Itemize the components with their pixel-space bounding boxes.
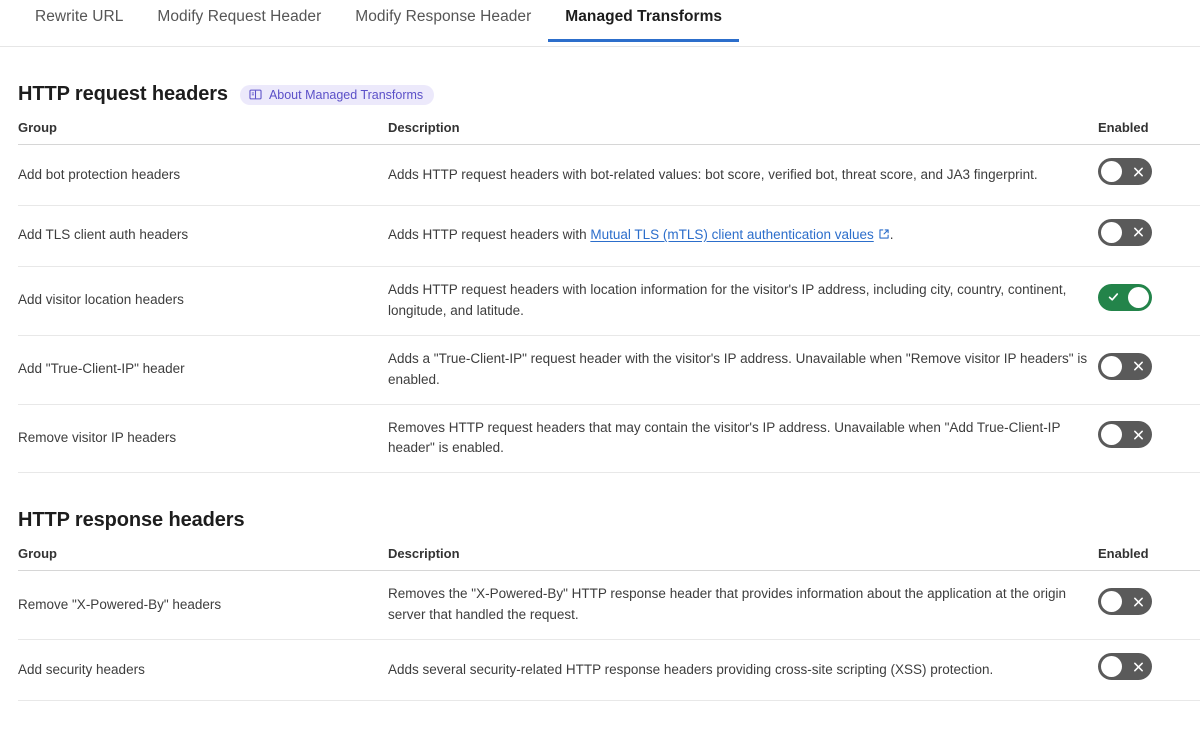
description-suffix: . [890,227,894,242]
table-row: Add TLS client auth headers Adds HTTP re… [18,205,1200,266]
close-icon [1133,661,1144,672]
request-section-header: HTTP request headers About Managed Trans… [18,83,1182,106]
table-row: Remove visitor IP headers Removes HTTP r… [18,404,1200,473]
toggle-add-true-client-ip-header[interactable] [1098,353,1152,380]
column-header-enabled: Enabled [1098,546,1200,571]
tab-label: Modify Response Header [355,8,531,25]
close-icon [1133,429,1144,440]
link-label: Mutual TLS (mTLS) client authentication … [590,227,873,242]
toggle-knob [1101,424,1122,445]
row-enabled-cell [1098,571,1200,640]
toggle-knob [1101,222,1122,243]
row-enabled-cell [1098,266,1200,335]
page-title: HTTP request headers [18,83,228,106]
response-headers-table: Group Description Enabled Remove "X-Powe… [18,546,1200,701]
check-icon [1107,291,1120,304]
column-header-description: Description [388,120,1098,145]
tab-label: Rewrite URL [35,8,123,25]
tab-modify-request-header[interactable]: Modify Request Header [140,0,338,41]
toggle-add-security-headers[interactable] [1098,653,1152,680]
row-enabled-cell [1098,640,1200,701]
row-description: Adds HTTP request headers with Mutual TL… [388,205,1098,266]
row-description: Adds several security-related HTTP respo… [388,640,1098,701]
toggle-knob [1101,356,1122,377]
tab-label: Modify Request Header [157,8,321,25]
transform-rules-tabbar: Rewrite URL Modify Request Header Modify… [0,0,1200,47]
request-headers-table: Group Description Enabled Add bot protec… [18,120,1200,473]
toggle-add-bot-protection-headers[interactable] [1098,158,1152,185]
row-description: Adds HTTP request headers with location … [388,266,1098,335]
tab-managed-transforms[interactable]: Managed Transforms [548,0,739,41]
toggle-add-visitor-location-headers[interactable] [1098,284,1152,311]
column-header-enabled: Enabled [1098,120,1200,145]
response-section-title: HTTP response headers [18,509,245,532]
table-row: Remove "X-Powered-By" headers Removes th… [18,571,1200,640]
close-icon [1133,596,1144,607]
column-header-description: Description [388,546,1098,571]
toggle-knob [1128,287,1149,308]
row-description: Removes HTTP request headers that may co… [388,404,1098,473]
close-icon [1133,361,1144,372]
tab-label: Managed Transforms [565,8,722,25]
row-enabled-cell [1098,205,1200,266]
column-header-group: Group [18,546,388,571]
close-icon [1133,166,1144,177]
tab-modify-response-header[interactable]: Modify Response Header [338,0,548,41]
table-row: Add security headers Adds several securi… [18,640,1200,701]
table-header-row: Group Description Enabled [18,546,1200,571]
row-group-name: Add visitor location headers [18,266,388,335]
toggle-knob [1101,161,1122,182]
response-section-header: HTTP response headers [18,509,1182,532]
mtls-documentation-link[interactable]: Mutual TLS (mTLS) client authentication … [590,227,873,242]
row-description: Adds a "True-Client-IP" request header w… [388,335,1098,404]
row-enabled-cell [1098,335,1200,404]
http-response-headers-section: HTTP response headers Group Description … [0,509,1200,701]
row-group-name: Add "True-Client-IP" header [18,335,388,404]
column-header-group: Group [18,120,388,145]
http-request-headers-section: HTTP request headers About Managed Trans… [0,83,1200,473]
table-header-row: Group Description Enabled [18,120,1200,145]
about-managed-transforms-badge[interactable]: About Managed Transforms [240,85,434,105]
table-row: Add visitor location headers Adds HTTP r… [18,266,1200,335]
row-description: Adds HTTP request headers with bot-relat… [388,145,1098,206]
toggle-knob [1101,656,1122,677]
badge-label: About Managed Transforms [269,88,423,102]
row-group-name: Add TLS client auth headers [18,205,388,266]
row-enabled-cell [1098,145,1200,206]
table-row: Add "True-Client-IP" header Adds a "True… [18,335,1200,404]
row-description: Removes the "X-Powered-By" HTTP response… [388,571,1098,640]
toggle-add-tls-client-auth-headers[interactable] [1098,219,1152,246]
row-group-name: Remove visitor IP headers [18,404,388,473]
external-link-icon [878,226,890,247]
toggle-remove-visitor-ip-headers[interactable] [1098,421,1152,448]
toggle-knob [1101,591,1122,612]
table-row: Add bot protection headers Adds HTTP req… [18,145,1200,206]
close-icon [1133,227,1144,238]
book-icon [249,88,262,101]
row-group-name: Add bot protection headers [18,145,388,206]
tab-rewrite-url[interactable]: Rewrite URL [18,0,140,41]
description-prefix: Adds HTTP request headers with [388,227,590,242]
row-enabled-cell [1098,404,1200,473]
row-group-name: Add security headers [18,640,388,701]
toggle-remove-x-powered-by-headers[interactable] [1098,588,1152,615]
row-group-name: Remove "X-Powered-By" headers [18,571,388,640]
